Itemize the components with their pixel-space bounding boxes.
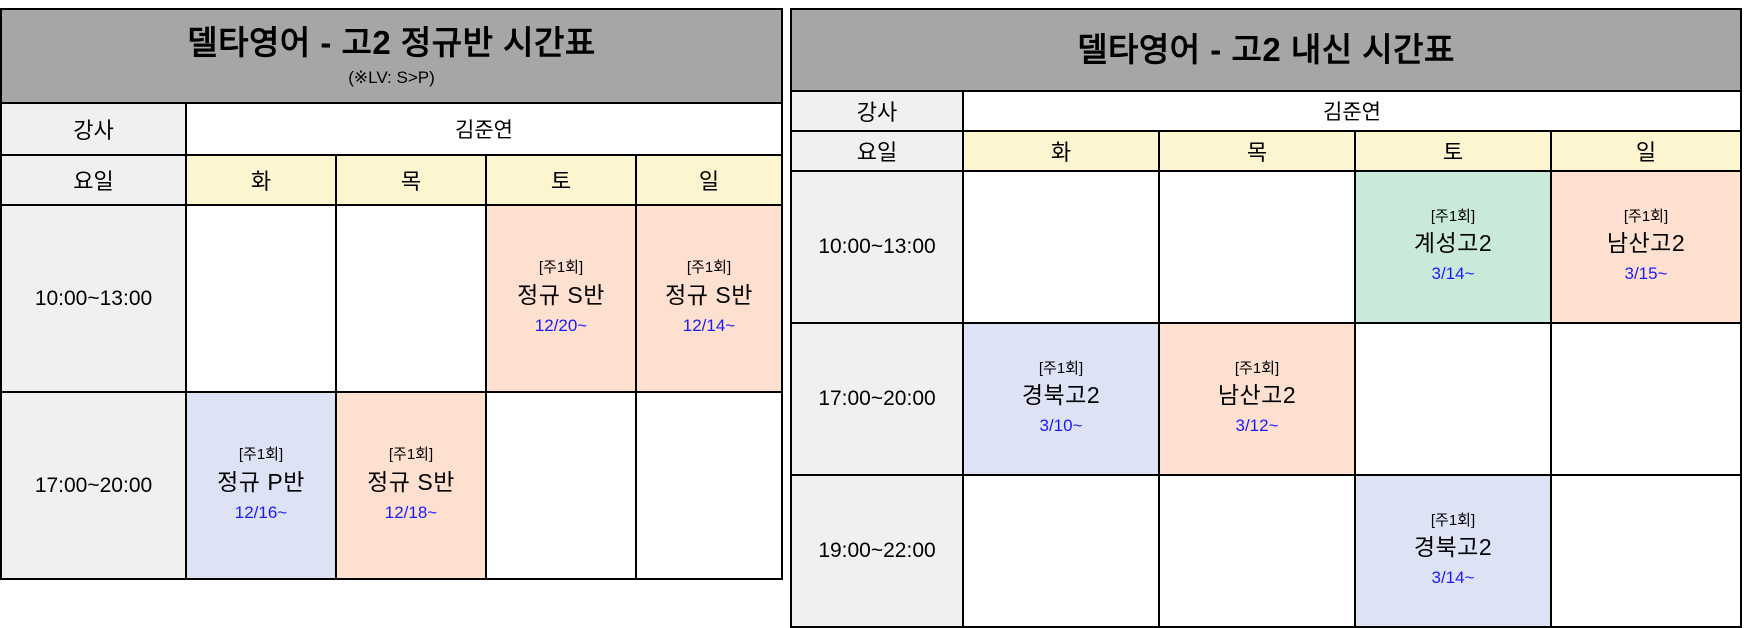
table-row: 10:00~13:00 [주1회] 계성고2 3/14~ [주	[791, 171, 1741, 323]
right-cell-r1-sun[interactable]: [주1회] 남산고2 3/15~	[1551, 171, 1741, 323]
left-cell-r2-thu[interactable]: [주1회] 정규 S반 12/18~	[336, 392, 486, 579]
start-date: 12/16~	[187, 502, 335, 525]
table-row: 17:00~20:00 [주1회] 경북고2 3/10~ [주1회] 남산고2 …	[791, 323, 1741, 475]
table-row: 17:00~20:00 [주1회] 정규 P반 12/16~ [주1회] 정규 …	[1, 392, 782, 579]
class-name: 남산고2	[1552, 229, 1740, 259]
right-cell-r1-tue[interactable]	[963, 171, 1159, 323]
left-cell-r2-sat[interactable]	[486, 392, 636, 579]
right-day-header-thu: 목	[1159, 131, 1355, 171]
left-time-slot-1: 10:00~13:00	[1, 205, 186, 392]
right-cell-r3-sat[interactable]: [주1회] 경북고2 3/14~	[1355, 475, 1551, 627]
right-time-slot-1: 10:00~13:00	[791, 171, 963, 323]
left-table-subtitle: (※LV: S>P)	[2, 68, 781, 87]
right-cell-r2-sat[interactable]	[1355, 323, 1551, 475]
freq-label: [주1회]	[1356, 512, 1550, 531]
start-date: 3/15~	[1552, 263, 1740, 286]
left-day-header-sat: 토	[486, 155, 636, 205]
freq-label: [주1회]	[1160, 360, 1354, 379]
right-teacher-name: 김준연	[963, 91, 1741, 131]
left-weekday-label: 요일	[1, 155, 186, 205]
left-cell-r2-tue[interactable]: [주1회] 정규 P반 12/16~	[186, 392, 336, 579]
left-time-slot-2: 17:00~20:00	[1, 392, 186, 579]
right-cell-r2-sun[interactable]	[1551, 323, 1741, 475]
class-name: 정규 S반	[487, 281, 635, 311]
start-date: 3/14~	[1356, 567, 1550, 590]
right-day-header-sat: 토	[1355, 131, 1551, 171]
schedule-page: 델타영어 - 고2 정규반 시간표 (※LV: S>P) 강사 김준연 요일 화…	[0, 0, 1750, 625]
class-name: 남산고2	[1160, 381, 1354, 411]
left-table-title-cell: 델타영어 - 고2 정규반 시간표 (※LV: S>P)	[1, 9, 782, 103]
class-name: 경북고2	[1356, 533, 1550, 563]
right-weekday-label: 요일	[791, 131, 963, 171]
class-name: 정규 P반	[187, 468, 335, 498]
right-cell-r1-sat[interactable]: [주1회] 계성고2 3/14~	[1355, 171, 1551, 323]
right-title-row: 델타영어 - 고2 내신 시간표	[791, 9, 1741, 91]
left-weekday-header-row: 요일 화 목 토 일	[1, 155, 782, 205]
class-name: 계성고2	[1356, 229, 1550, 259]
left-cell-r2-sun[interactable]	[636, 392, 782, 579]
freq-label: [주1회]	[187, 446, 335, 465]
right-teacher-label: 강사	[791, 91, 963, 131]
left-title-row: 델타영어 - 고2 정규반 시간표 (※LV: S>P)	[1, 9, 782, 103]
right-cell-r3-thu[interactable]	[1159, 475, 1355, 627]
freq-label: [주1회]	[637, 259, 781, 278]
right-teacher-row: 강사 김준연	[791, 91, 1741, 131]
right-day-header-tue: 화	[963, 131, 1159, 171]
start-date: 3/10~	[964, 415, 1158, 438]
right-time-slot-3: 19:00~22:00	[791, 475, 963, 627]
freq-label: [주1회]	[1552, 208, 1740, 227]
internal-exam-schedule-table: 델타영어 - 고2 내신 시간표 강사 김준연 요일 화 목 토 일 10:00…	[790, 8, 1742, 628]
regular-class-schedule-table: 델타영어 - 고2 정규반 시간표 (※LV: S>P) 강사 김준연 요일 화…	[0, 8, 783, 580]
start-date: 3/12~	[1160, 415, 1354, 438]
left-cell-r1-sun[interactable]: [주1회] 정규 S반 12/14~	[636, 205, 782, 392]
right-cell-r2-tue[interactable]: [주1회] 경북고2 3/10~	[963, 323, 1159, 475]
right-time-slot-2: 17:00~20:00	[791, 323, 963, 475]
left-teacher-row: 강사 김준연	[1, 103, 782, 155]
right-cell-r3-tue[interactable]	[963, 475, 1159, 627]
table-row: 19:00~22:00 [주1회] 경북고2 3/14~	[791, 475, 1741, 627]
start-date: 12/18~	[337, 502, 485, 525]
left-table-title: 델타영어 - 고2 정규반 시간표	[2, 25, 781, 62]
left-day-header-tue: 화	[186, 155, 336, 205]
right-table-title-cell: 델타영어 - 고2 내신 시간표	[791, 9, 1741, 91]
freq-label: [주1회]	[337, 446, 485, 465]
right-cell-r2-thu[interactable]: [주1회] 남산고2 3/12~	[1159, 323, 1355, 475]
freq-label: [주1회]	[964, 360, 1158, 379]
start-date: 3/14~	[1356, 263, 1550, 286]
right-cell-r1-thu[interactable]	[1159, 171, 1355, 323]
table-row: 10:00~13:00 [주1회] 정규 S반 12/20~	[1, 205, 782, 392]
right-day-header-sun: 일	[1551, 131, 1741, 171]
start-date: 12/20~	[487, 315, 635, 338]
left-cell-r1-thu[interactable]	[336, 205, 486, 392]
freq-label: [주1회]	[1356, 208, 1550, 227]
left-teacher-name: 김준연	[186, 103, 782, 155]
left-day-header-thu: 목	[336, 155, 486, 205]
left-cell-r1-sat[interactable]: [주1회] 정규 S반 12/20~	[486, 205, 636, 392]
left-day-header-sun: 일	[636, 155, 782, 205]
left-cell-r1-tue[interactable]	[186, 205, 336, 392]
start-date: 12/14~	[637, 315, 781, 338]
class-name: 정규 S반	[337, 468, 485, 498]
class-name: 경북고2	[964, 381, 1158, 411]
freq-label: [주1회]	[487, 259, 635, 278]
right-weekday-header-row: 요일 화 목 토 일	[791, 131, 1741, 171]
right-table-title: 델타영어 - 고2 내신 시간표	[792, 32, 1740, 69]
left-teacher-label: 강사	[1, 103, 186, 155]
right-cell-r3-sun[interactable]	[1551, 475, 1741, 627]
class-name: 정규 S반	[637, 281, 781, 311]
